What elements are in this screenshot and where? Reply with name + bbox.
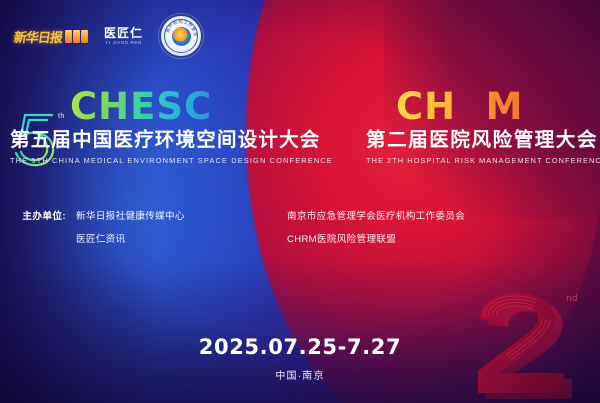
organizer-right-2: CHRM医院风险管理联盟 — [287, 231, 396, 245]
headline-block: th CHESC 第五届中国医疗环境空间设计大会 THE 5TH CHINA M… — [0, 88, 600, 186]
chrm-acronym: CHRM — [396, 88, 523, 125]
left-conference-block: CHESC 第五届中国医疗环境空间设计大会 THE 5TH CHINA MEDI… — [10, 88, 360, 165]
organizer-row: 主办单位: 新华日报社健康传媒中心 南京市应急管理学会医疗机构工作委员会 — [0, 208, 600, 222]
svg-text:nd: nd — [566, 294, 577, 304]
yijiangren-logo-text: 医匠仁 — [104, 27, 143, 39]
event-location: 中国·南京 — [0, 367, 600, 382]
organizer-left-2: 医匠仁资讯 — [76, 231, 211, 245]
right-conference-block: CHRM 第二届医院风险管理大会 THE 2TH HOSPITAL RISK M… — [366, 88, 594, 165]
xinhua-daily-logo-blocks — [65, 30, 88, 43]
chesc-acronym: CHESC — [70, 88, 212, 125]
xinhua-daily-logo-text: 新华日报 — [13, 27, 64, 46]
organizer-row: 医匠仁资讯 CHRM医院风险管理联盟 — [0, 231, 600, 245]
chrm-acronym-part2: M — [486, 85, 524, 128]
yijiangren-logo-pinyin: YI JIANG REN — [104, 41, 143, 46]
svg-text:医疗机构工作委员会: 医疗机构工作委员会 — [161, 16, 198, 37]
yijiangren-logo: 医匠仁 YI JIANG REN — [104, 27, 143, 46]
xinhua-daily-logo: 新华日报 — [14, 26, 88, 46]
chesc-title-en: THE 5TH CHINA MEDICAL ENVIRONMENT SPACE … — [10, 156, 360, 165]
chrm-title-cn: 第二届医院风险管理大会 — [366, 129, 594, 151]
chesc-title-cn: 第五届中国医疗环境空间设计大会 — [10, 129, 360, 151]
event-date: 2025.07.25-7.27 — [0, 337, 600, 358]
organizer-right-1: 南京市应急管理学会医疗机构工作委员会 — [287, 208, 465, 222]
sponsor-logo-bar: 新华日报 医匠仁 YI JIANG REN 医疗机构工作委员会 — [14, 14, 203, 58]
chrm-title-en: THE 2TH HOSPITAL RISK MANAGEMENT CONFERE… — [366, 156, 594, 165]
organizers-section: 主办单位: 新华日报社健康传媒中心 南京市应急管理学会医疗机构工作委员会 医匠仁… — [0, 208, 600, 254]
association-emblem-logo: 医疗机构工作委员会 — [159, 14, 203, 58]
conference-poster: nd 新华日报 医匠仁 YI JIANG REN 医疗机构工作委员会 — [0, 0, 600, 403]
organizers-label: 主办单位: — [0, 208, 66, 222]
chrm-acronym-part1: CH — [396, 85, 456, 128]
event-date-block: 2025.07.25-7.27 中国·南京 — [0, 337, 600, 382]
organizer-left-1: 新华日报社健康传媒中心 — [76, 208, 211, 222]
chrm-acronym-flipped-r: R — [456, 88, 486, 125]
emblem-arc-text-icon: 医疗机构工作委员会 — [161, 16, 201, 56]
